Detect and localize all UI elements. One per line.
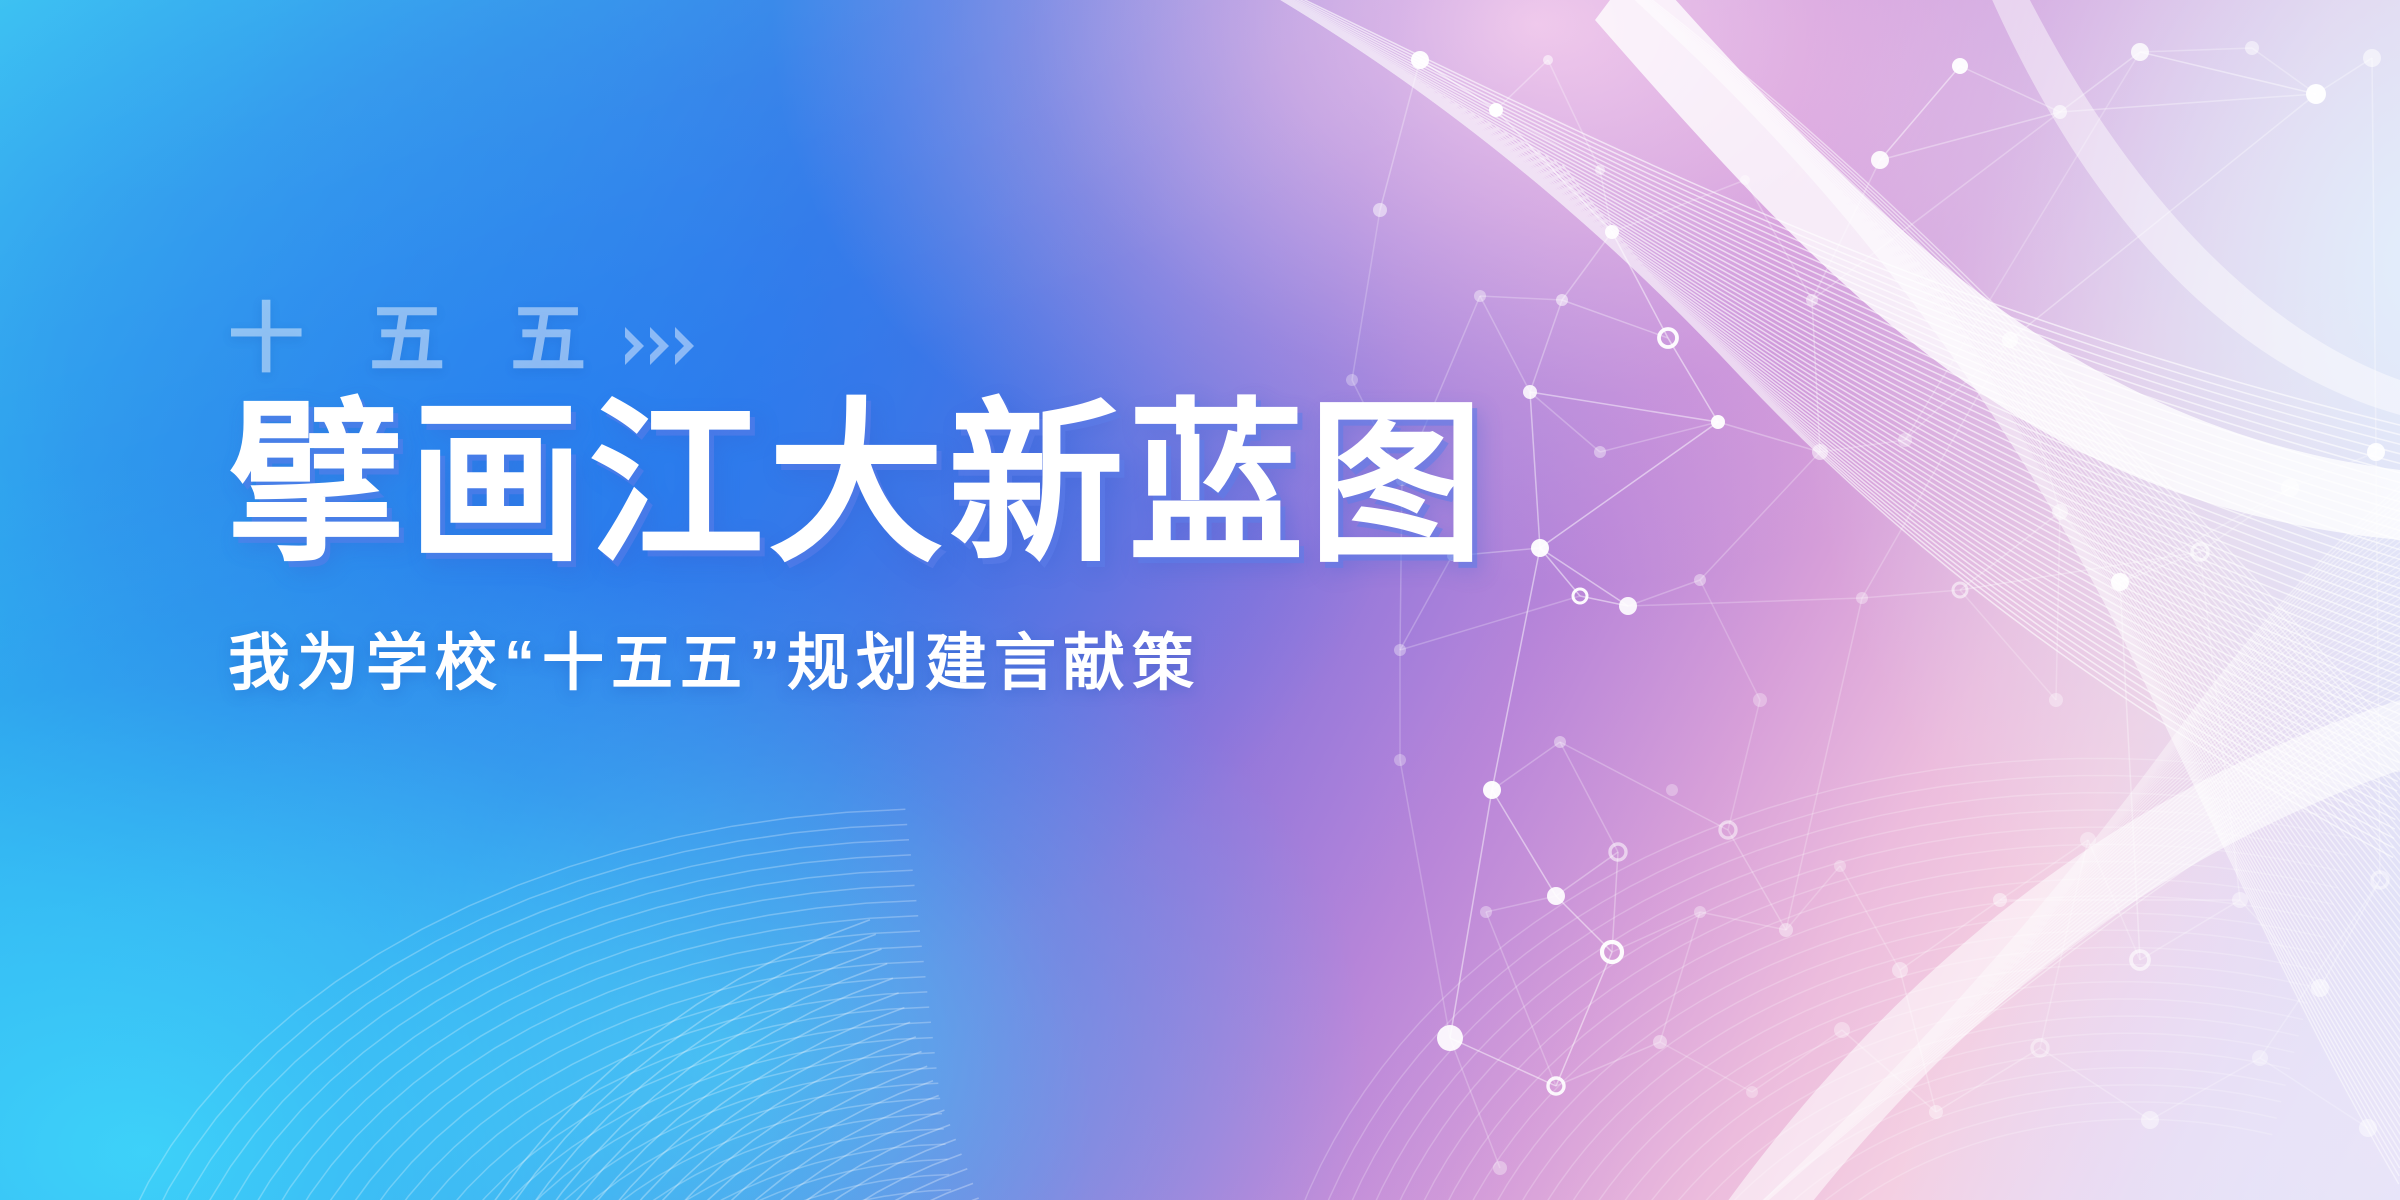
eyebrow-label: 十 五 五 [228,302,608,378]
banner-subtitle: 我为学校“十五五”规划建言献策 [228,633,1548,695]
banner-title: 擘画江大新蓝图 [228,394,1548,581]
chevron-group [620,324,695,368]
promo-banner: 十 五 五 擘画江大新蓝图 我为学校“十五五”规划建言献策 [0,0,2400,1200]
chevron-right-icon [670,324,700,368]
banner-content: 十 五 五 擘画江大新蓝图 我为学校“十五五”规划建言献策 [228,292,1548,695]
eyebrow-row: 十 五 五 [228,292,1548,388]
